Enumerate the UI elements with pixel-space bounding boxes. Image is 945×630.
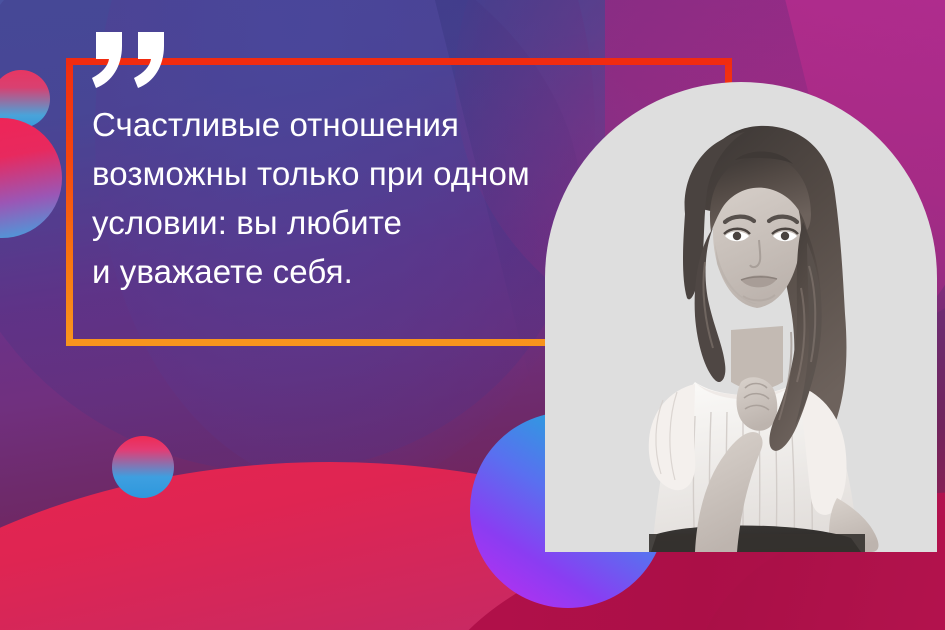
quotation-mark-icon <box>88 28 178 98</box>
decor-circle-left-large <box>0 118 62 238</box>
quote-banner: Счастливые отношения возможны только при… <box>0 0 945 630</box>
decor-circle-top-left-small <box>0 70 50 128</box>
portrait-circle <box>545 82 937 552</box>
decor-circle-bottom-small <box>112 436 174 498</box>
